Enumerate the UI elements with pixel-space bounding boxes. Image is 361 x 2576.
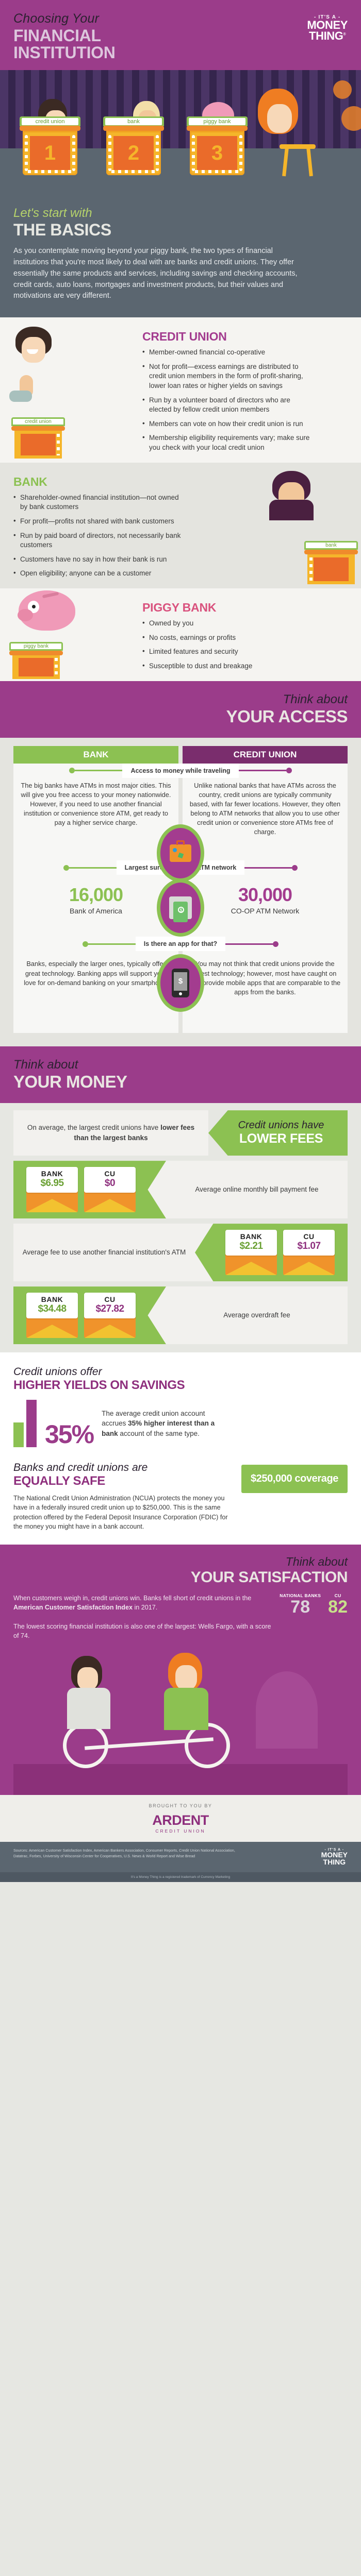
envelope-body xyxy=(26,1316,78,1338)
stat-caption-bank: Bank of America xyxy=(20,907,172,915)
bank-content: BANK Shareholder-owned financial institu… xyxy=(13,475,214,579)
fee-card-value: $2.21 xyxy=(227,1241,275,1252)
thumbs-up-icon xyxy=(7,375,45,409)
row-line-cu xyxy=(239,770,286,771)
score-national-banks: NATIONAL BANKS 78 xyxy=(280,1594,321,1616)
basics-script: Let's start with xyxy=(13,206,348,221)
fee-card-value: $1.07 xyxy=(285,1241,333,1252)
access-script: Think about xyxy=(13,692,348,707)
fee-card-value: $0 xyxy=(86,1178,134,1189)
legal-notice: It's a Money Thing is a registered trade… xyxy=(0,1872,361,1882)
yields-script: Credit unions offer xyxy=(13,1366,348,1378)
list-item: Run by a volunteer board of directors wh… xyxy=(142,396,313,415)
podium-credit-union: credit union 1 xyxy=(20,116,80,175)
envelope-body xyxy=(283,1253,335,1275)
podium-label-text: piggy bank xyxy=(11,643,61,649)
row-line-bank xyxy=(69,867,117,869)
satisfaction-body: When customers weigh in, credit unions w… xyxy=(13,1594,348,1640)
money-banner: Think about YOUR MONEY xyxy=(0,1046,361,1103)
podium-label-plate: piggy bank xyxy=(187,116,248,126)
access-title: YOUR ACCESS xyxy=(13,707,348,726)
list-item: No costs, earnings or profits xyxy=(142,633,313,643)
fee-card-cu: CU $0 xyxy=(84,1167,136,1193)
row-label-apps: Is there an app for that? xyxy=(13,937,348,951)
yield-percent: 35% xyxy=(45,1421,93,1447)
yield-note-post: account of the same type. xyxy=(118,1430,200,1437)
podium-lights-left xyxy=(25,135,28,171)
list-item: For profit—profits not shared with bank … xyxy=(13,517,184,527)
fee-row-label: Average online monthly bill payment fee xyxy=(166,1161,348,1218)
access-stat-cu: 30,000 CO-OP ATM Network xyxy=(183,847,348,925)
satisfaction-paragraph: When customers weigh in, credit unions w… xyxy=(13,1594,272,1640)
fee-row-overdraft: BANK $34.48 CU $27.82 Average overdraft … xyxy=(13,1286,348,1344)
access-row-apps: Is there an app for that? Banks, especia… xyxy=(13,925,348,1033)
safety-script: Banks and credit unions are xyxy=(13,1462,232,1474)
yield-bar-chart xyxy=(13,1400,37,1447)
game-show-illustration: credit union 1 bank 2 piggy bank xyxy=(0,70,361,204)
background-tree-icon xyxy=(256,1671,318,1749)
row-line-cu xyxy=(225,943,273,945)
stat-value-bank: 16,000 xyxy=(20,884,172,906)
podium-label-text: bank xyxy=(306,543,356,548)
podium-body: 3 xyxy=(190,131,244,175)
bank-heading: BANK xyxy=(13,475,214,489)
podium-label-plate: bank xyxy=(103,116,164,126)
bank-panel: bank BANK Shareholder-owned financial in… xyxy=(0,463,361,588)
access-banner: Think about YOUR ACCESS xyxy=(0,681,361,738)
basics-title: THE BASICS xyxy=(13,221,348,240)
list-item: Open eligibility; anyone can be a custom… xyxy=(13,569,184,579)
yields-title: HIGHER YIELDS ON SAVINGS xyxy=(13,1378,348,1393)
podium-lights-left xyxy=(108,135,111,171)
satisfaction-text-1: When customers weigh in, credit unions w… xyxy=(13,1595,251,1602)
podium-number: 2 xyxy=(113,136,154,170)
piggy-bank-bullets: Owned by you No costs, earnings or profi… xyxy=(142,619,348,671)
column-header-credit-union: CREDIT UNION xyxy=(183,746,348,764)
podium-top xyxy=(20,126,80,131)
fee-card-bank: BANK $6.95 xyxy=(26,1167,78,1193)
fees-section: On average, the largest credit unions ha… xyxy=(0,1103,361,1344)
row-dot-cu xyxy=(273,941,278,947)
access-cell-text: Banks, especially the larger ones, typic… xyxy=(20,959,172,987)
row-label-text: Access to money while traveling xyxy=(122,764,238,778)
list-item: Members can vote on how their credit uni… xyxy=(142,419,313,429)
fee-card-label: CU xyxy=(285,1232,333,1241)
access-cell-text: The big banks have ATMs in most major ci… xyxy=(20,781,172,828)
envelope-body xyxy=(225,1253,277,1275)
podium-lights-bottom xyxy=(28,170,72,173)
rider-2-shirt xyxy=(164,1688,208,1730)
bank-bullets: Shareholder-owned financial institution—… xyxy=(13,493,214,579)
podium-body: 2 xyxy=(106,131,161,175)
fee-card-label: CU xyxy=(86,1170,134,1178)
row-line-bank xyxy=(88,943,136,945)
podium-number: 3 xyxy=(197,136,237,170)
podium-label-text: credit union xyxy=(22,118,78,125)
stool-icon xyxy=(280,135,316,175)
money-thing-logo-footer: - IT'S A - MONEY THING xyxy=(321,1848,348,1866)
access-row-traveling: Access to money while traveling The big … xyxy=(13,764,348,848)
list-item: Owned by you xyxy=(142,619,313,629)
brought-to-you-by-label: BROUGHT TO YOU BY xyxy=(13,1803,348,1808)
list-item: Membership eligibility requirements vary… xyxy=(142,433,313,452)
list-item: Susceptible to dust and breakage xyxy=(142,662,313,671)
access-cell-text: Unlike national banks that have ATMs acr… xyxy=(189,781,341,837)
yields-chart: 35% The average credit union account acc… xyxy=(13,1400,348,1447)
fee-values-overdraft: BANK $34.48 CU $27.82 xyxy=(13,1286,166,1344)
tandem-bike-illustration xyxy=(13,1640,348,1795)
row-dot-bank xyxy=(83,941,88,947)
avatar-credit-union-man xyxy=(13,327,54,371)
envelope-body xyxy=(84,1316,136,1338)
podium-lights-bottom xyxy=(111,170,156,173)
fee-card-cu: CU $1.07 xyxy=(283,1230,335,1256)
avatar-rider-2 xyxy=(168,1653,202,1691)
satisfaction-section: Think about YOUR SATISFACTION When custo… xyxy=(0,1545,361,1795)
lower-fees-script: Credit unions have xyxy=(226,1120,336,1131)
fee-card-cu: CU $27.82 xyxy=(84,1293,136,1318)
fee-card-label: CU xyxy=(86,1295,134,1303)
sponsor-footer: BROUGHT TO YOU BY ARDENT CREDIT UNION xyxy=(0,1795,361,1842)
score-value: 78 xyxy=(280,1598,321,1616)
satisfaction-scores: NATIONAL BANKS 78 CU 82 xyxy=(280,1594,348,1616)
fee-card-label: BANK xyxy=(227,1232,275,1241)
lower-fees-callout: Credit unions have LOWER FEES xyxy=(208,1110,348,1156)
coverage-badge: $250,000 coverage xyxy=(241,1465,348,1493)
podium-lights-right xyxy=(72,135,75,171)
list-item: Member-owned financial co-operative xyxy=(142,348,313,358)
row-label-text: Is there an app for that? xyxy=(136,937,225,951)
score-value: 82 xyxy=(328,1598,348,1616)
safety-text: Banks and credit unions are EQUALLY SAFE… xyxy=(13,1462,232,1531)
fee-row-label: Average fee to use another financial ins… xyxy=(13,1224,195,1281)
podium-label-text: piggy bank xyxy=(189,118,245,125)
podium-bank: bank 2 xyxy=(103,116,164,175)
money-title: YOUR MONEY xyxy=(13,1072,348,1092)
access-cell-text: You may not think that credit unions pro… xyxy=(189,959,341,997)
podium-lights-left xyxy=(192,135,195,171)
bar-bank xyxy=(13,1422,24,1447)
credit-union-content: CREDIT UNION Member-owned financial co-o… xyxy=(142,330,348,453)
fee-card-label: BANK xyxy=(28,1170,76,1178)
row-line-bank xyxy=(75,770,122,771)
envelope-bank: BANK $2.21 xyxy=(225,1230,277,1275)
spotlight-icon xyxy=(333,80,352,99)
list-item: Run by paid board of directors, not nece… xyxy=(13,531,184,550)
podium-lights-bottom xyxy=(195,170,239,173)
ardent-brand-sub: CREDIT UNION xyxy=(13,1828,348,1834)
podium-top xyxy=(103,126,164,131)
row-dot-cu xyxy=(286,768,292,773)
satisfaction-script: Think about xyxy=(13,1555,348,1569)
podium-piggy-small: piggy bank xyxy=(9,642,63,681)
basics-section: Let's start with THE BASICS As you conte… xyxy=(0,204,361,317)
money-thing-logo: - IT'S A - MONEY THING® xyxy=(307,11,348,42)
credit-union-panel: credit union CREDIT UNION Member-owned f… xyxy=(0,317,361,463)
envelope-bank: BANK $34.48 xyxy=(26,1293,78,1338)
piggy-bank-content: PIGGY BANK Owned by you No costs, earnin… xyxy=(142,601,348,671)
credit-union-heading: CREDIT UNION xyxy=(142,330,348,344)
fee-card-value: $27.82 xyxy=(86,1303,134,1315)
fee-card-value: $6.95 xyxy=(28,1178,76,1189)
satisfaction-text-2: The lowest scoring financial institution… xyxy=(13,1623,271,1639)
money-script: Think about xyxy=(13,1058,348,1072)
envelope-cu: CU $1.07 xyxy=(283,1230,335,1275)
stat-caption-cu: CO-OP ATM Network xyxy=(189,907,341,915)
fees-intro-plain: On average, the largest credit unions ha… xyxy=(27,1124,160,1131)
fees-intro-row: On average, the largest credit unions ha… xyxy=(13,1110,348,1156)
fee-values-bill-payment: BANK $6.95 CU $0 xyxy=(13,1161,166,1218)
podium-lights-right xyxy=(239,135,242,171)
access-stat-bank: 16,000 Bank of America xyxy=(13,847,178,925)
envelope-bank: BANK $6.95 xyxy=(26,1167,78,1212)
row-line-cu xyxy=(244,867,292,869)
podium-label-text: bank xyxy=(105,118,162,125)
podium-label-plate: credit union xyxy=(20,116,80,126)
piggy-bank-icon xyxy=(19,590,75,631)
fee-card-bank: BANK $2.21 xyxy=(225,1230,277,1256)
row-dot-cu xyxy=(292,865,298,871)
yield-note: The average credit union account accrues… xyxy=(102,1409,225,1439)
hero-title-line1: FINANCIAL xyxy=(13,26,101,45)
access-comparison: BANK CREDIT UNION Access to money while … xyxy=(0,738,361,1047)
envelope-cu: CU $27.82 xyxy=(84,1293,136,1338)
ardent-brand-name: ARDENT xyxy=(152,1812,209,1828)
row-label-traveling: Access to money while traveling xyxy=(13,764,348,778)
fee-row-label: Average overdraft fee xyxy=(166,1286,348,1344)
avatar-rider-1 xyxy=(71,1656,102,1690)
hero-script-title: Choosing Your xyxy=(13,11,116,26)
avatar-bank-man xyxy=(269,471,314,520)
suitcase-icon xyxy=(157,824,204,882)
access-column-headers: BANK CREDIT UNION xyxy=(13,746,348,764)
piggy-bank-panel: piggy bank PIGGY BANK Owned by you No co… xyxy=(0,588,361,681)
envelope-body xyxy=(84,1191,136,1212)
logo-thing: THING xyxy=(321,1859,348,1866)
stat-value-cu: 30,000 xyxy=(189,884,341,906)
fee-row-bill-payment: BANK $6.95 CU $0 Average online monthly … xyxy=(13,1161,348,1218)
ardent-logo: ARDENT CREDIT UNION xyxy=(13,1812,348,1834)
column-header-bank: BANK xyxy=(13,746,178,764)
fee-card-value: $34.48 xyxy=(28,1303,76,1315)
envelope-cu: CU $0 xyxy=(84,1167,136,1212)
fees-intro-text: On average, the largest credit unions ha… xyxy=(13,1110,208,1156)
piggy-bank-heading: PIGGY BANK xyxy=(142,601,348,615)
list-item: Customers have no say in how their bank … xyxy=(13,555,184,565)
satisfaction-index-name: American Customer Satisfaction Index xyxy=(13,1604,133,1611)
logo-thing: THING xyxy=(309,29,343,42)
logo-registered-icon: ® xyxy=(343,33,346,37)
safety-body: The National Credit Union Administration… xyxy=(13,1494,232,1531)
podium-credit-union-small: credit union xyxy=(11,417,65,463)
atm-icon: $ xyxy=(157,879,204,937)
fee-values-foreign-atm: BANK $2.21 CU $1.07 xyxy=(195,1224,348,1281)
list-item: Not for profit—excess earnings are distr… xyxy=(142,362,313,391)
rider-1-shirt xyxy=(67,1688,110,1729)
row-dot-bank xyxy=(63,865,69,871)
list-item: Limited features and security xyxy=(142,647,313,657)
avatar-host xyxy=(258,89,298,134)
satisfaction-title: YOUR SATISFACTION xyxy=(13,1569,348,1586)
credit-union-bullets: Member-owned financial co-operative Not … xyxy=(142,348,348,453)
envelope-body xyxy=(26,1191,78,1212)
hero-title-line2: INSTITUTION xyxy=(13,43,116,62)
podium-bank-small: bank xyxy=(304,541,358,588)
infographic-page: Choosing Your FINANCIAL INSTITUTION - IT… xyxy=(0,0,361,1882)
smartphone-icon: $ xyxy=(157,954,204,1012)
ground-shadow xyxy=(13,1764,348,1795)
podium-lights-right xyxy=(156,135,159,171)
yields-and-safety-section: Credit unions offer HIGHER YIELDS ON SAV… xyxy=(0,1352,361,1545)
podium-top xyxy=(187,126,248,131)
podium-label-text: credit union xyxy=(13,419,63,425)
podium-number: 1 xyxy=(30,136,70,170)
basics-body: As you contemplate moving beyond your pi… xyxy=(13,246,302,302)
page-title: Choosing Your FINANCIAL INSTITUTION xyxy=(13,11,116,61)
score-credit-union: CU 82 xyxy=(328,1594,348,1616)
bar-credit-union xyxy=(26,1400,37,1447)
podium-body: 1 xyxy=(23,131,77,175)
safety-section: Banks and credit unions are EQUALLY SAFE… xyxy=(13,1462,348,1531)
satisfaction-text-1-end: in 2017. xyxy=(133,1604,157,1611)
fee-card-label: BANK xyxy=(28,1295,76,1303)
fee-row-foreign-atm: Average fee to use another financial ins… xyxy=(13,1224,348,1281)
hero-header: Choosing Your FINANCIAL INSTITUTION - IT… xyxy=(0,0,361,70)
sources-text: Sources: American Customer Satisfaction … xyxy=(13,1848,235,1866)
sources-footer: Sources: American Customer Satisfaction … xyxy=(0,1842,361,1872)
safety-title: EQUALLY SAFE xyxy=(13,1474,232,1488)
podium-piggy-bank: piggy bank 3 xyxy=(187,116,248,175)
fee-card-bank: BANK $34.48 xyxy=(26,1293,78,1318)
lower-fees-title: LOWER FEES xyxy=(226,1131,336,1146)
list-item: Shareholder-owned financial institution—… xyxy=(13,493,184,512)
row-dot-bank xyxy=(69,768,75,773)
